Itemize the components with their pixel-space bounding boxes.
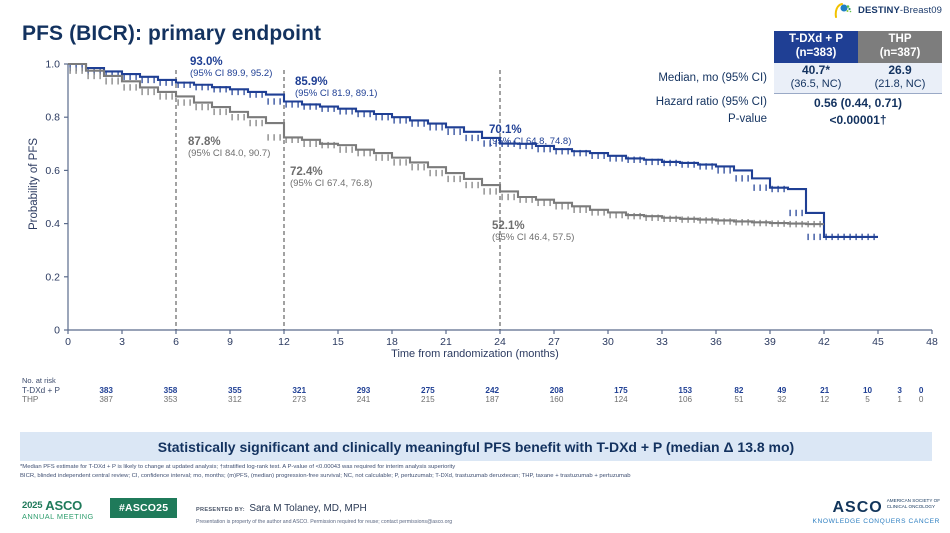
- at-risk-row: T-DXd + P3833583553212932752422081751538…: [22, 386, 932, 395]
- at-risk-value: 312: [203, 395, 267, 404]
- page-title: PFS (BICR): primary endpoint: [22, 22, 321, 46]
- chart-svg: 00.20.40.60.81.0036912151821242730333639…: [0, 48, 950, 368]
- chart-annotation: 93.0%(95% CI 89.9, 95.2): [190, 56, 272, 80]
- at-risk-row: THP3873533122732412151871601241065132125…: [22, 395, 932, 404]
- at-risk-value: 82: [717, 386, 760, 395]
- at-risk-value: 241: [331, 395, 395, 404]
- svg-text:36: 36: [710, 336, 722, 348]
- at-risk-value: 275: [396, 386, 460, 395]
- presented-by-label: PRESENTED BY:: [196, 507, 245, 513]
- y-axis-title: Probability of PFS: [28, 104, 40, 264]
- svg-text:3: 3: [119, 336, 125, 348]
- asco-tagline: KNOWLEDGE CONQUERS CANCER: [813, 518, 940, 525]
- at-risk-value: 32: [760, 395, 803, 404]
- asco-meeting-line1: 2025 ASCO: [22, 499, 94, 512]
- annotation-percent: 85.9%: [295, 76, 377, 89]
- annotation-ci: (95% CI 81.9, 89.1): [295, 89, 377, 100]
- svg-text:1.0: 1.0: [45, 59, 60, 71]
- at-risk-value: 321: [267, 386, 331, 395]
- svg-text:39: 39: [764, 336, 776, 348]
- svg-text:0.6: 0.6: [45, 165, 60, 177]
- svg-text:21: 21: [440, 336, 452, 348]
- permission-text: Presentation is property of the author a…: [196, 519, 452, 525]
- at-risk-value: 3: [889, 386, 910, 395]
- at-risk-value: 273: [267, 395, 331, 404]
- at-risk-grid: T-DXd + P3833583553212932752422081751538…: [22, 386, 932, 404]
- svg-text:33: 33: [656, 336, 668, 348]
- svg-text:0.4: 0.4: [45, 218, 60, 230]
- svg-text:42: 42: [818, 336, 830, 348]
- chart-annotation: 70.1%(95% CI 64.8, 74.8): [489, 124, 571, 148]
- svg-text:18: 18: [386, 336, 398, 348]
- annotation-ci: (95% CI 84.0, 90.7): [188, 149, 270, 160]
- chart-axes: 00.20.40.60.81.0036912151821242730333639…: [45, 59, 938, 349]
- at-risk-value: 187: [460, 395, 524, 404]
- hashtag-badge: #ASCO25: [110, 498, 177, 518]
- svg-text:0.2: 0.2: [45, 271, 60, 283]
- svg-text:0.8: 0.8: [45, 112, 60, 124]
- at-risk-value: 160: [524, 395, 588, 404]
- annotation-ci: (95% CI 67.4, 76.8): [290, 179, 372, 190]
- svg-text:48: 48: [926, 336, 938, 348]
- chart-annotation: 85.9%(95% CI 81.9, 89.1): [295, 76, 377, 100]
- at-risk-value: 355: [203, 386, 267, 395]
- km-curve-chart: 00.20.40.60.81.0036912151821242730333639…: [0, 48, 950, 368]
- at-risk-value: 124: [589, 395, 653, 404]
- at-risk-row-label: T-DXd + P: [22, 386, 74, 395]
- at-risk-value: 358: [138, 386, 202, 395]
- footnotes: *Median PFS estimate for T-DXd + P is li…: [20, 463, 935, 481]
- at-risk-value: 0: [910, 386, 932, 395]
- asco-wordmark: ASCO: [833, 499, 883, 517]
- at-risk-value: 293: [331, 386, 395, 395]
- annotation-ci: (95% CI 89.9, 95.2): [190, 69, 272, 80]
- at-risk-value: 1: [889, 395, 910, 404]
- asco-society-logo: ASCOAMERICAN SOCIETY OFCLINICAL ONCOLOGY…: [813, 498, 940, 525]
- svg-text:0: 0: [54, 325, 60, 337]
- at-risk-value: 49: [760, 386, 803, 395]
- destiny-breast-logo-icon: [834, 2, 854, 18]
- at-risk-value: 383: [74, 386, 138, 395]
- at-risk-value: 0: [910, 395, 932, 404]
- asco-annual-meeting-logo: 2025 ASCO ANNUAL MEETING: [22, 499, 94, 520]
- annotation-percent: 87.8%: [188, 136, 270, 149]
- asco-society-sub: AMERICAN SOCIETY OFCLINICAL ONCOLOGY: [887, 498, 940, 509]
- at-risk-value: 21: [803, 386, 846, 395]
- at-risk-value: 51: [717, 395, 760, 404]
- x-axis-title: Time from randomization (months): [0, 348, 950, 360]
- chart-annotation: 52.1%(95% CI 46.4, 57.5): [492, 220, 574, 244]
- svg-text:45: 45: [872, 336, 884, 348]
- number-at-risk-table: No. at risk T-DXd + P3833583553212932752…: [22, 376, 932, 404]
- study-logo-text: DESTINY-Breast09: [858, 5, 942, 16]
- at-risk-value: 353: [138, 395, 202, 404]
- annotation-percent: 72.4%: [290, 166, 372, 179]
- slide-footer: 2025 ASCO ANNUAL MEETING #ASCO25 PRESENT…: [0, 496, 950, 533]
- svg-text:0: 0: [65, 336, 71, 348]
- slide-root: DESTINY-Breast09 PFS (BICR): primary end…: [0, 0, 950, 533]
- study-logo: DESTINY-Breast09: [834, 2, 942, 18]
- presented-by-block: PRESENTED BY: Sara M Tolaney, MD, MPH Pr…: [196, 498, 452, 525]
- annotation-percent: 52.1%: [492, 220, 574, 233]
- annotation-ci: (95% CI 46.4, 57.5): [492, 233, 574, 244]
- annotation-percent: 70.1%: [489, 124, 571, 137]
- at-risk-value: 208: [524, 386, 588, 395]
- chart-annotation: 72.4%(95% CI 67.4, 76.8): [290, 166, 372, 190]
- at-risk-value: 175: [589, 386, 653, 395]
- at-risk-value: 153: [653, 386, 717, 395]
- svg-text:9: 9: [227, 336, 233, 348]
- svg-text:15: 15: [332, 336, 344, 348]
- svg-text:27: 27: [548, 336, 560, 348]
- svg-text:30: 30: [602, 336, 614, 348]
- conclusion-banner: Statistically significant and clinically…: [20, 432, 932, 461]
- svg-text:12: 12: [278, 336, 290, 348]
- footnote-line-1: *Median PFS estimate for T-DXd + P is li…: [20, 463, 935, 472]
- footnote-line-2: BICR, blinded independent central review…: [20, 472, 935, 481]
- at-risk-value: 387: [74, 395, 138, 404]
- at-risk-row-label: THP: [22, 395, 74, 404]
- at-risk-value: 10: [846, 386, 889, 395]
- presenter-name: Sara M Tolaney, MD, MPH: [249, 503, 366, 514]
- asco-meeting-line2: ANNUAL MEETING: [22, 513, 94, 520]
- annotation-percent: 93.0%: [190, 56, 272, 69]
- at-risk-value: 106: [653, 395, 717, 404]
- at-risk-value: 5: [846, 395, 889, 404]
- chart-annotation: 87.8%(95% CI 84.0, 90.7): [188, 136, 270, 160]
- annotation-ci: (95% CI 64.8, 74.8): [489, 137, 571, 148]
- svg-text:6: 6: [173, 336, 179, 348]
- at-risk-value: 12: [803, 395, 846, 404]
- at-risk-value: 215: [396, 395, 460, 404]
- at-risk-value: 242: [460, 386, 524, 395]
- at-risk-title: No. at risk: [22, 376, 932, 385]
- svg-text:24: 24: [494, 336, 506, 348]
